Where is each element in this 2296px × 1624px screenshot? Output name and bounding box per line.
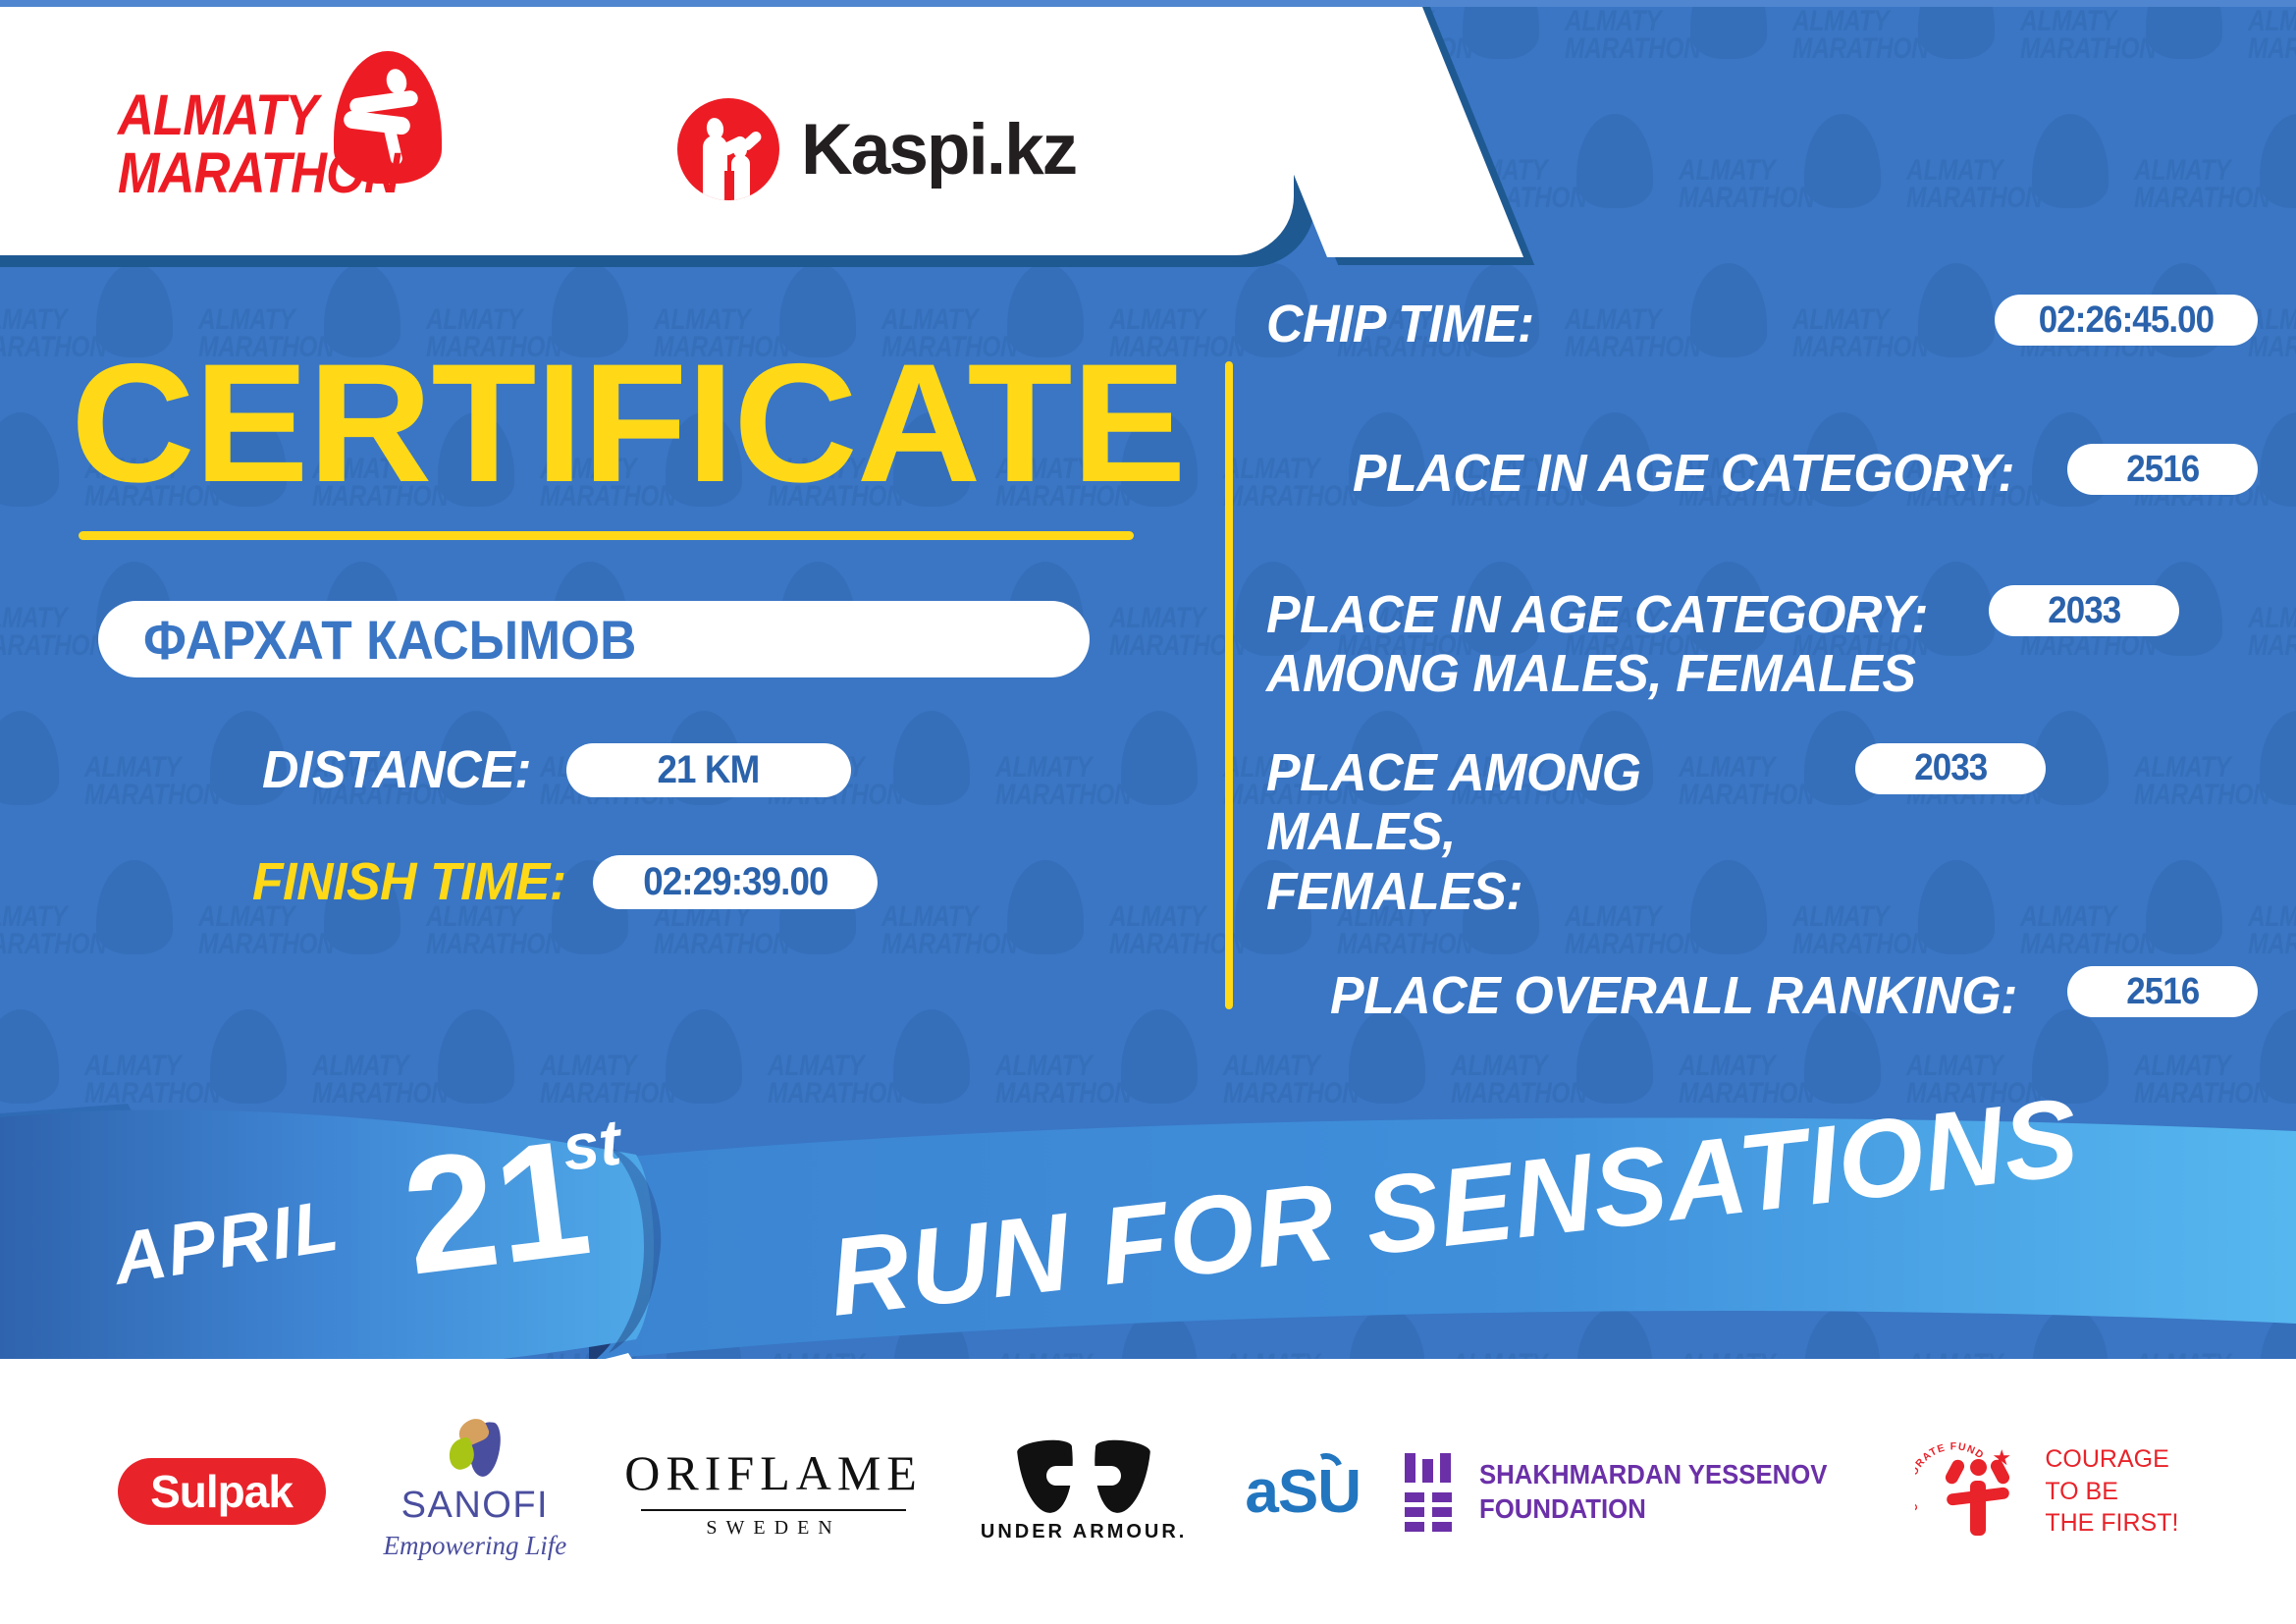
distance-pill: 21 KM [566,743,851,797]
almaty-line: ALMATY [118,86,400,144]
watermark-runner-drop-icon [1463,0,1539,59]
sponsor-logo-asu: aSU [1245,1457,1343,1527]
place-in-age-category-pill: 2516 [2067,444,2258,495]
participant-name-value: ФАРХАТ КАСЫМОВ [143,608,636,672]
page-title: CERTIFICATE [71,344,1202,504]
watermark-runner-drop-icon [2146,0,2222,59]
chip-time-row: CHIP TIME: 02:26:45.00 [1266,289,2258,373]
watermark-runner-icon [1835,0,1878,47]
label-line-1: PLACE AMONG MALES, [1266,743,1641,861]
distance-row: DISTANCE: 21 KM [262,738,1180,801]
watermark-runner-icon [2290,0,2296,47]
finish-time-pill: 02:29:39.00 [593,855,878,909]
sponsor-logo-sanofi: SANOFI Empowering Life [384,1422,567,1561]
label-line-1: PLACE IN AGE CATEGORY: [1266,585,1928,644]
place-among-males-females-row: PLACE AMONG MALES, FEMALES: 2033 [1266,737,2258,921]
watermark-line-1: ALMATY [1679,157,1814,185]
place-among-males-females-value: 2033 [1914,747,1987,789]
watermark-runner-icon [2062,0,2106,47]
yessenov-line-1: SHAKHMARDAN YESSENOV [1479,1459,1828,1489]
sponsor-logos-strip: Sulpak SANOFI Empowering Life ORIFLAME S… [0,1359,2296,1624]
courage-figure-icon: CORPORATE FUND ★ [1915,1437,2031,1545]
place-among-males-females-pill: 2033 [1855,743,2046,794]
watermark-runner-icon [1721,139,1764,196]
watermark-tile: ALMATYMARATHON [2134,110,2296,257]
participant-name-field: ФАРХАТ КАСЫМОВ [98,601,1090,677]
watermark-runner-drop-icon [2260,114,2296,208]
watermark-line-2: MARATHON [2134,185,2269,212]
sanofi-wordmark: SANOFI [401,1485,549,1527]
oriflame-wordmark: ORIFLAME [624,1444,923,1501]
watermark-text: ALMATYMARATHON [1792,8,1928,62]
yessenov-line-2: FOUNDATION [1479,1493,1646,1524]
vertical-divider [1225,361,1233,1009]
kaspi-wordmark: Kaspi.kz [801,109,1076,190]
watermark-text: ALMATYMARATHON [1906,157,2042,211]
place-in-age-category-among-value: 2033 [2048,590,2120,632]
watermark-line-1: ALMATY [2020,8,2156,35]
top-accent-strip [0,0,2296,7]
place-in-age-category-row: PLACE IN AGE CATEGORY: 2516 [1266,438,2258,522]
label-line-2: AMONG MALES, FEMALES [1266,644,1915,703]
place-in-age-category-among-label: PLACE IN AGE CATEGORY: AMONG MALES, FEMA… [1266,579,1928,704]
watermark-text: ALMATYMARATHON [2020,8,2156,62]
under-armour-mark-icon [1020,1440,1148,1513]
watermark-tile: ALMATYMARATHON [1565,0,1790,108]
watermark-line-1: ALMATY [2248,8,2296,35]
watermark-line-1: ALMATY [1565,8,1700,35]
distance-label: DISTANCE: [262,739,531,800]
watermark-line-1: ALMATY [2134,157,2269,185]
marathon-line: MARATHON [118,144,400,202]
place-in-age-category-label: PLACE IN AGE CATEGORY: [1353,438,2014,503]
watermark-runner-drop-icon [1804,114,1881,208]
watermark-runner-icon [1949,139,1992,196]
ribbon-ordinal: st [559,1105,627,1184]
left-stats-list: DISTANCE: 21 KM FINISH TIME: 02:29:39.00 [262,738,1180,913]
place-in-age-category-among-row: PLACE IN AGE CATEGORY: AMONG MALES, FEMA… [1266,579,2258,704]
sulpak-wordmark: Sulpak [150,1465,293,1518]
almaty-marathon-logo: ALMATY MARATHON [118,61,442,198]
sponsor-logo-courage-fund: CORPORATE FUND ★ COURAGE TO BE THE FIRST… [1915,1437,2178,1545]
place-among-males-females-label: PLACE AMONG MALES, FEMALES: [1266,737,1794,921]
oriflame-subtitle: SWEDEN [706,1517,840,1540]
watermark-text: ALMATYMARATHON [2248,8,2296,62]
watermark-tile: ALMATYMARATHON [2020,0,2246,108]
kaspi-logo: Kaspi.kz [677,98,1076,200]
watermark-tile: ALMATYMARATHON [2248,0,2296,108]
header-content: ALMATY MARATHON Kaspi.kz [0,0,1227,253]
courage-wordmark: COURAGE TO BE THE FIRST! [2045,1443,2178,1540]
asu-wordmark: aSU [1245,1457,1361,1527]
right-stats-list: CHIP TIME: 02:26:45.00 PLACE IN AGE CATE… [1266,289,2258,1082]
watermark-tile: ALMATYMARATHON [1906,110,2132,257]
yessenov-bars-icon [1401,1453,1458,1530]
distance-value: 21 KM [658,748,760,792]
chip-time-value: 02:26:45.00 [2039,299,2214,342]
sponsor-logo-oriflame: ORIFLAME SWEDEN [624,1444,923,1540]
watermark-line-2: MARATHON [1906,185,2042,212]
label-line-2: FEMALES: [1266,862,1522,921]
watermark-line-2: MARATHON [1679,185,1814,212]
place-overall-ranking-value: 2516 [2126,971,2199,1013]
watermark-line-1: ALMATY [1792,8,1928,35]
place-in-age-category-among-pill: 2033 [1989,585,2179,636]
courage-line-1: COURAGE [2045,1445,2168,1473]
watermark-runner-icon [1607,0,1650,47]
watermark-text: ALMATYMARATHON [2134,157,2269,211]
watermark-runner-drop-icon [1918,0,1995,59]
place-overall-ranking-row: PLACE OVERALL RANKING: 2516 [1266,960,2258,1045]
courage-line-2: TO BE [2045,1478,2118,1505]
place-overall-ranking-label: PLACE OVERALL RANKING: [1330,960,2017,1025]
watermark-line-2: MARATHON [1565,35,1700,63]
under-armour-wordmark: UNDER ARMOUR. [981,1521,1187,1543]
watermark-text: ALMATYMARATHON [1565,8,1700,62]
watermark-tile: ALMATYMARATHON [1679,110,1904,257]
watermark-line-2: MARATHON [2248,35,2296,63]
finish-time-value: 02:29:39.00 [643,860,828,904]
left-column: CERTIFICATE ФАРХАТ КАСЫМОВ DISTANCE: 21 … [71,344,1180,962]
courage-line-3: THE FIRST! [2045,1509,2178,1537]
finish-time-row: FINISH TIME: 02:29:39.00 [252,850,1180,913]
place-overall-ranking-pill: 2516 [2067,966,2258,1017]
oriflame-rule [641,1509,906,1511]
kaspi-people-icon [677,98,779,200]
chip-time-label: CHIP TIME: [1266,289,1965,353]
watermark-runner-drop-icon [2032,114,2109,208]
sponsor-logo-yessenov-foundation: SHAKHMARDAN YESSENOV FOUNDATION [1401,1453,1857,1530]
watermark-tile: ALMATYMARATHON [1792,0,2018,108]
almaty-marathon-wordmark: ALMATY MARATHON [118,86,400,202]
place-in-age-category-value: 2516 [2126,449,2199,491]
watermark-runner-icon [2176,139,2219,196]
watermark-text: ALMATYMARATHON [1679,157,1814,211]
main-content: CERTIFICATE ФАРХАТ КАСЫМОВ DISTANCE: 21 … [0,253,2296,1108]
sponsor-logo-sulpak: Sulpak [118,1458,326,1525]
title-underline [79,531,1134,540]
sponsor-logo-under-armour: UNDER ARMOUR. [981,1440,1187,1543]
watermark-runner-drop-icon [1690,0,1767,59]
corporate-fund-arc-text: CORPORATE FUND [1915,1441,2000,1526]
watermark-line-2: MARATHON [1792,35,1928,63]
watermark-runner-drop-icon [1576,114,1653,208]
certificate-canvas: ALMATYMARATHONALMATYMARATHONALMATYMARATH… [0,0,2296,1624]
watermark-line-1: ALMATY [1906,157,2042,185]
yessenov-wordmark: SHAKHMARDAN YESSENOV FOUNDATION [1479,1457,1828,1526]
sanofi-mark-icon [443,1422,507,1481]
chip-time-pill: 02:26:45.00 [1995,295,2258,346]
sanofi-tagline: Empowering Life [384,1531,567,1561]
finish-time-label: FINISH TIME: [252,851,566,912]
watermark-line-2: MARATHON [2020,35,2156,63]
